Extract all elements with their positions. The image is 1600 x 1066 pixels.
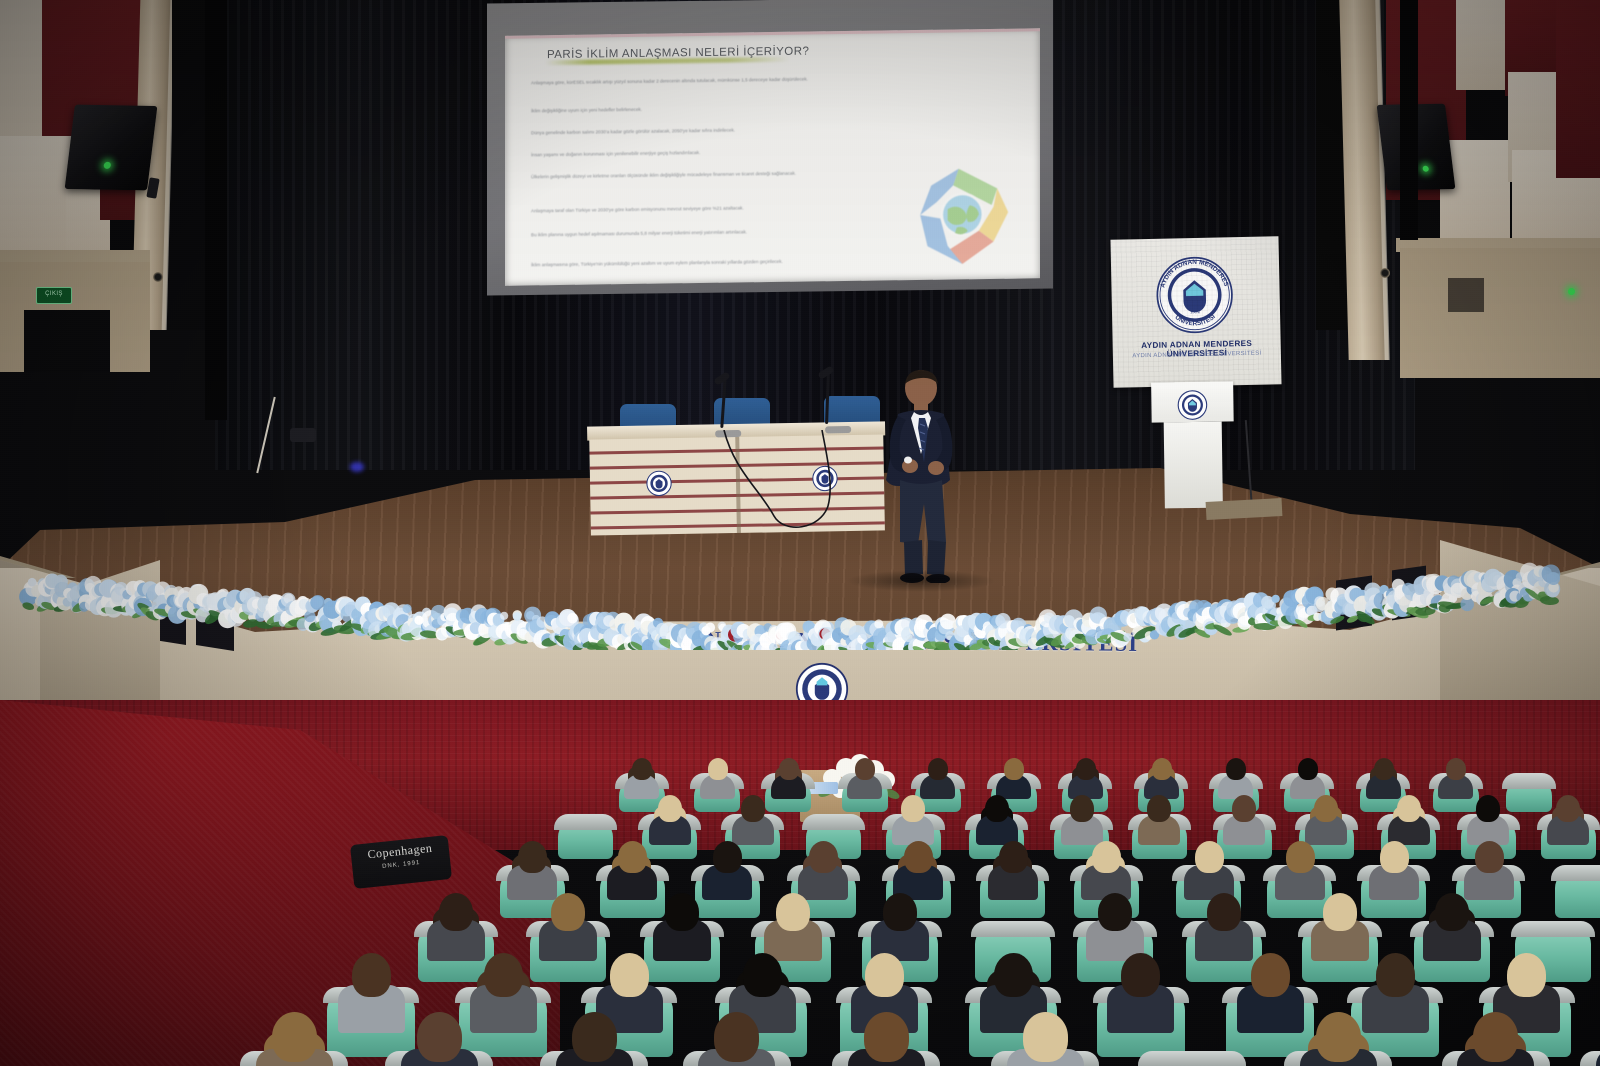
exit-indicator-right <box>1568 288 1575 295</box>
slide-bullet: Anlaşmaya taraf olan Türkiye ve 2030'ye … <box>531 202 930 216</box>
audience-person-head <box>518 841 547 873</box>
auditorium-seat[interactable] <box>1506 778 1552 812</box>
audience-person <box>892 793 934 841</box>
audience-person <box>848 1009 925 1066</box>
seat-frame <box>554 814 617 830</box>
audience-person <box>1464 839 1514 896</box>
audience-person <box>1223 793 1265 841</box>
audience-person-head <box>658 795 682 822</box>
audience-person-head <box>883 893 917 931</box>
auditorium-seat[interactable] <box>1555 870 1600 918</box>
audience-person <box>1369 839 1419 896</box>
audience-person <box>1007 1009 1084 1066</box>
presenter-person <box>866 368 976 583</box>
lectern-top-panel <box>1151 381 1234 422</box>
lectern-body <box>1164 422 1223 509</box>
audience-person <box>507 839 557 896</box>
audience-person <box>1081 839 1131 896</box>
audience-person-head <box>1076 758 1096 780</box>
audience-person-head <box>1147 795 1171 822</box>
audience-person <box>698 1009 775 1066</box>
audience-person <box>1086 890 1144 956</box>
audience-person <box>1423 890 1481 956</box>
audience-person-head <box>743 953 782 997</box>
audience-person <box>624 756 659 796</box>
audience-person <box>732 793 774 841</box>
audience-person <box>1144 756 1179 796</box>
audience-person-head <box>985 795 1009 822</box>
audience-person-head <box>352 953 391 997</box>
audience-person-head <box>1207 893 1241 931</box>
audience-person <box>1138 793 1180 841</box>
audience-person <box>338 950 405 1027</box>
audience-person <box>1366 756 1401 796</box>
audience-person <box>653 890 711 956</box>
banner-primary-text: AYDIN ADNAN MENDERES ÜNİVERSİTESİ <box>1113 338 1281 360</box>
audience-person-head <box>1376 953 1415 997</box>
audience-person-head <box>1323 893 1357 931</box>
audience-person-head <box>994 953 1033 997</box>
audience-person <box>771 756 806 796</box>
svg-text:AYDIN ADNAN MENDERES: AYDIN ADNAN MENDERES <box>1159 258 1230 289</box>
slide-bullet: İnsan yaşamı ve doğanın korunması için y… <box>531 145 1022 160</box>
audience-person <box>700 756 735 796</box>
audience-person <box>702 839 752 896</box>
lectern-seal-icon <box>1177 390 1207 420</box>
presenter-shadow <box>846 570 996 592</box>
audience-person <box>539 890 597 956</box>
audience-person-head <box>779 758 799 780</box>
slide-bullet: İklim değişikliğine uyum için yeni hedef… <box>531 101 1022 116</box>
wall-panel-cream-left-2 <box>0 136 72 256</box>
wall-vent-left <box>24 310 110 372</box>
audience-person-head <box>855 758 875 780</box>
seat-frame <box>1551 865 1600 881</box>
audience-person <box>1195 890 1253 956</box>
audience-person <box>607 839 657 896</box>
audience-person-head <box>999 841 1028 873</box>
audience-person <box>1184 839 1234 896</box>
audience-person-head <box>1476 795 1500 822</box>
seat-frame <box>971 921 1055 937</box>
audience-person <box>1290 756 1325 796</box>
audience-person-head <box>1226 758 1246 780</box>
panel-table-seal <box>646 470 672 496</box>
auditorium-seat[interactable] <box>558 819 613 859</box>
audience-person <box>764 890 822 956</box>
slide-bullet: Bu iklim planına uygun hedef aşılmaması … <box>531 226 920 240</box>
wall-lower-right <box>1400 248 1600 378</box>
audience-person-head <box>865 953 904 997</box>
audience-person <box>798 839 848 896</box>
audience-person-head <box>417 1012 462 1062</box>
apron-recess-right-2 <box>1392 566 1426 621</box>
audience-person-head <box>1023 1012 1068 1062</box>
audience-person <box>556 1009 633 1066</box>
audience-person-head <box>1070 795 1094 822</box>
audience-person <box>920 756 955 796</box>
audience-person-head <box>708 758 728 780</box>
stage-front-sign: AYDIN ADNAN MENDERES ÜNİVERSİTESİ <box>645 626 1065 660</box>
audience-person-head <box>1098 893 1132 931</box>
lectern <box>1151 381 1235 508</box>
audience-person-head <box>1556 795 1580 822</box>
apron-recess-left-2 <box>196 593 234 651</box>
seat-frame <box>1138 1051 1246 1066</box>
audience-person-head <box>618 841 647 873</box>
audience-person <box>1275 839 1325 896</box>
exit-sign-label: ÇIKIŞ <box>45 291 63 297</box>
audience-person <box>847 756 882 796</box>
audience-person-head <box>1380 841 1409 873</box>
svg-text:ÜNİVERSİTESİ: ÜNİVERSİTESİ <box>1173 312 1217 328</box>
loudspeaker-left <box>65 105 158 191</box>
audience-person-head <box>713 841 742 873</box>
audience-person-head <box>1251 953 1290 997</box>
presentation-slide: PARİS İKLİM ANLAŞMASI NELERİ İÇERİYOR? A… <box>505 28 1040 285</box>
audience-person-head <box>741 795 765 822</box>
slide-bullet: İklim anlaşmasına göre, Türkiye'nin yükü… <box>531 256 920 270</box>
audience-person <box>401 1009 478 1066</box>
audience-person-head <box>1004 758 1024 780</box>
audience-person-head <box>1435 893 1469 931</box>
audience-person <box>427 890 485 956</box>
audience-person-head <box>1397 795 1421 822</box>
audience-person-head <box>272 1012 317 1062</box>
audience-person <box>256 1009 333 1066</box>
audience-person-head <box>1152 758 1172 780</box>
audience-person <box>1300 1009 1377 1066</box>
auditorium-seat[interactable] <box>1142 1056 1242 1066</box>
audience-person-head <box>904 841 933 873</box>
audience-person <box>1457 1009 1534 1066</box>
audience-person <box>871 890 929 956</box>
audience-person-head <box>610 953 649 997</box>
audience-person-head <box>1121 953 1160 997</box>
audience-person-head <box>864 1012 909 1062</box>
banner-secondary-text: AYDIN ADNAN MENDERES ÜNİVERSİTESİ <box>1113 350 1281 360</box>
audience-person-head <box>551 893 585 931</box>
audience-person-head <box>484 953 523 997</box>
stage-monitor-light <box>350 462 364 472</box>
wall-socket-right <box>1380 268 1390 278</box>
audience-person-head <box>1316 1012 1361 1062</box>
audience-person-head <box>439 893 473 931</box>
audience-person-torso <box>1596 1049 1600 1066</box>
audience-person <box>996 756 1031 796</box>
audience-person <box>1061 793 1103 841</box>
audience-person-head <box>665 893 699 931</box>
audience-person <box>1305 793 1347 841</box>
audience-person-head <box>1473 1012 1518 1062</box>
audience-person-head <box>714 1012 759 1062</box>
audience-person-head <box>776 893 810 931</box>
loudspeaker-right-led <box>1422 166 1429 172</box>
audience-person <box>1107 950 1174 1027</box>
audience-area <box>0 700 1600 1066</box>
audience-person <box>1547 793 1589 841</box>
audience-person-head <box>1092 841 1121 873</box>
audience-person-head <box>1374 758 1394 780</box>
audience-person <box>1218 756 1253 796</box>
audience-person <box>1311 890 1369 956</box>
audience-person-head <box>1446 758 1466 780</box>
audience-person <box>976 793 1018 841</box>
seat-frame <box>1511 921 1595 937</box>
wall-socket-left <box>153 272 163 282</box>
audience-person-head <box>1298 758 1318 780</box>
exit-sign-left: ÇIKIŞ <box>36 287 72 304</box>
audience-person <box>1438 756 1473 796</box>
audience-person-head <box>1507 953 1546 997</box>
loudspeaker-left-led <box>103 162 111 169</box>
audience-person-head <box>1232 795 1256 822</box>
audience-person-head <box>572 1012 617 1062</box>
university-seal-icon: 1992 AYDIN ADNAN MENDERES ÜNİVERSİTESİ <box>1155 255 1235 335</box>
slide-bullet: Ülkelerin gelişmişlik düzeyi ve kirletme… <box>531 168 930 182</box>
audience-person <box>988 839 1038 896</box>
auditorium-photo: ÇIKIŞ PARİS İKLİM ANLAŞMASI NELERİ İÇERİ… <box>0 0 1600 1066</box>
wall-vent-right <box>1448 278 1484 312</box>
audience-person <box>470 950 537 1027</box>
audience-person-head <box>632 758 652 780</box>
seat-frame <box>1502 773 1556 789</box>
stage-left-doorway <box>205 0 227 420</box>
audience-person-head <box>1286 841 1315 873</box>
apron-recess-right-1 <box>1336 575 1372 630</box>
audience-person <box>893 839 943 896</box>
audience-person <box>649 793 691 841</box>
stage-right-doorway <box>1400 0 1418 240</box>
audience-person <box>1237 950 1304 1027</box>
audience-person <box>1467 793 1509 841</box>
audience-person <box>1596 1009 1600 1066</box>
seat-frame <box>802 814 865 830</box>
audience-person-head <box>901 795 925 822</box>
microphone-cable <box>700 430 860 540</box>
audience-person <box>1388 793 1430 841</box>
audience-person-head <box>1475 841 1504 873</box>
audience-person-head <box>1314 795 1338 822</box>
audience-person-head <box>928 758 948 780</box>
audience-person-head <box>809 841 838 873</box>
audience-person <box>1068 756 1103 796</box>
recycling-globe-icon <box>903 161 1018 273</box>
slide-bullet: Dünya genelinde karbon salımı 2030'a kad… <box>531 123 1022 138</box>
svg-text:1992: 1992 <box>1190 309 1201 315</box>
slide-bullet: Anlaşmaya göre, kürESEL sıcaklık artışı … <box>531 73 1022 88</box>
audience-person-head <box>1195 841 1224 873</box>
university-banner: 1992 AYDIN ADNAN MENDERES ÜNİVERSİTESİ A… <box>1110 236 1281 387</box>
wall-panel-red-right-3 <box>1556 0 1600 178</box>
stage-fixture-left <box>290 428 316 442</box>
